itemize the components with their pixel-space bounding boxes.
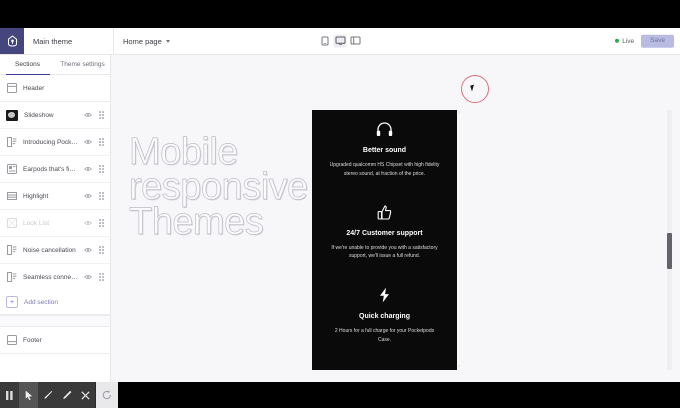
sidebar-item-highlight[interactable]: Highlight [0,182,110,209]
topbar-actions: Live Save [615,35,674,48]
drag-handle-icon[interactable] [99,246,104,255]
drag-handle-icon[interactable] [99,111,104,120]
sidebar-item-label: Introducing Pocketp... [23,139,78,146]
row-controls [84,138,104,147]
section-icon [6,137,17,148]
mobile-preview-frame[interactable]: Better sound Upgraded qualcomm HS Chipse… [312,110,457,370]
desktop-view-button[interactable] [334,35,347,48]
add-section-button[interactable]: + Add section [0,290,110,314]
letterbox-top [0,0,680,28]
save-button[interactable]: Save [641,35,674,48]
eye-icon[interactable] [84,111,92,119]
eye-icon[interactable] [84,273,92,281]
row-controls [84,111,104,120]
preview-block-body: If we're unable to provide you with a sa… [322,244,447,262]
sidebar-item-footer[interactable]: Footer [0,327,110,353]
row-controls [84,246,104,255]
add-section-label: Add section [24,299,58,306]
pause-button[interactable] [0,382,19,408]
drag-handle-icon[interactable] [99,165,104,174]
sidebar-item-slideshow[interactable]: Slideshow [0,102,110,128]
live-label: Live [622,38,634,45]
preview-block-customer-support: 24/7 Customer support If we're unable to… [312,179,457,262]
sidebar-item-label: Slideshow [24,112,78,119]
recorder-toolbar [0,382,118,408]
eye-icon[interactable] [84,246,92,254]
resize-tick-top: ⁺ [458,111,461,114]
overlay-marketing-text: Mobile responsive Themes [129,135,308,240]
sidebar-item-label: Highlight [23,193,78,200]
eye-icon[interactable] [84,165,92,173]
section-group-main: Slideshow In [0,102,110,315]
overlay-line-3: Themes [129,205,308,240]
editor-topbar: Main theme Home page L [0,28,680,55]
tab-theme-settings[interactable]: Theme settings [55,55,110,74]
tab-sections[interactable]: Sections [0,55,55,74]
eye-icon[interactable] [84,192,92,200]
sidebar-item-label: Noise cancellation [23,247,78,254]
section-list: Header Slideshow [0,75,110,382]
theme-name-label: Main theme [24,37,113,46]
row-controls [84,165,104,174]
resize-tick-bottom: ⁺ [458,365,461,368]
drag-handle-icon[interactable] [99,192,104,201]
device-toggle-group [319,35,362,48]
preview-canvas: Mobile responsive Themes Bette [111,55,680,382]
row-controls [84,192,104,201]
drag-handle-icon[interactable] [99,138,104,147]
highlighter-button[interactable] [57,382,76,408]
theme-editor-window: Main theme Home page L [0,28,680,382]
eye-icon[interactable] [84,138,92,146]
status-dot-icon [615,39,619,43]
plus-icon: + [6,296,18,308]
restart-button[interactable] [96,382,118,408]
page-selector-label: Home page [123,37,162,46]
section-icon [6,191,17,202]
thumbs-up-icon [322,205,447,220]
row-controls [84,273,104,282]
sidebar-item-label: Seamless connect... [23,274,78,281]
sidebar-item-look-list[interactable]: Look List [0,209,110,236]
sidebar-item-label: Look List [23,220,78,227]
live-status: Live [615,38,634,45]
editor-body: Sections Theme settings Header [0,55,680,382]
sidebar-item-introducing-pocketpods[interactable]: Introducing Pocketp... [0,128,110,155]
preview-block-body: Upgraded qualcomm HS Chipset with high f… [322,161,447,179]
section-icon [6,218,17,229]
sidebar-divider [0,315,110,327]
preview-block-better-sound: Better sound Upgraded qualcomm HS Chipse… [312,110,457,179]
preview-block-quick-charging: Quick charging 2 Hours for a full charge… [312,261,457,345]
section-icon [6,164,17,175]
preview-scrollbar-thumb[interactable] [667,233,672,269]
sidebar-item-noise-cancellation[interactable]: Noise cancellation [0,236,110,263]
headphones-icon [322,122,447,137]
overlay-line-2: responsive [129,170,308,205]
section-icon [6,272,17,283]
sidebar-item-label: Header [23,85,104,92]
preview-block-title: Quick charging [322,313,447,320]
header-icon [6,83,17,94]
sidebar-item-label: Earpods that's final... [23,166,78,173]
overlay-line-1: Mobile [129,135,308,170]
sidebar-item-earpods[interactable]: Earpods that's final... [0,155,110,182]
section-group-footer: Footer [0,327,110,354]
preview-block-title: 24/7 Customer support [322,230,447,237]
footer-icon [6,335,17,346]
section-group-header: Header [0,75,110,102]
chevron-down-icon [166,40,170,43]
sidebar-item-header[interactable]: Header [0,75,110,101]
cursor-button[interactable] [19,382,38,408]
sidebar: Sections Theme settings Header [0,55,111,382]
page-selector[interactable]: Home page [114,37,170,46]
preview-block-body: 2 Hours for a full charge for your Pocke… [322,327,447,345]
screen-root: Main theme Home page L [0,0,680,408]
preview-block-title: Better sound [322,147,447,154]
pen-button[interactable] [38,382,57,408]
drag-handle-icon[interactable] [99,219,104,228]
mobile-view-button[interactable] [319,35,332,48]
sidebar-tabs: Sections Theme settings [0,55,110,75]
slideshow-thumbnail [6,110,18,121]
drag-handle-icon[interactable] [99,273,104,282]
close-button[interactable] [76,382,95,408]
eye-icon[interactable] [84,219,92,227]
lightning-bolt-icon [322,287,447,303]
lock-shield-icon[interactable] [0,28,24,54]
sidebar-item-seamless-connect[interactable]: Seamless connect... [0,263,110,290]
section-icon [6,245,17,256]
fullwidth-view-button[interactable] [349,35,362,48]
sidebar-item-label: Footer [23,337,104,344]
row-controls [84,219,104,228]
